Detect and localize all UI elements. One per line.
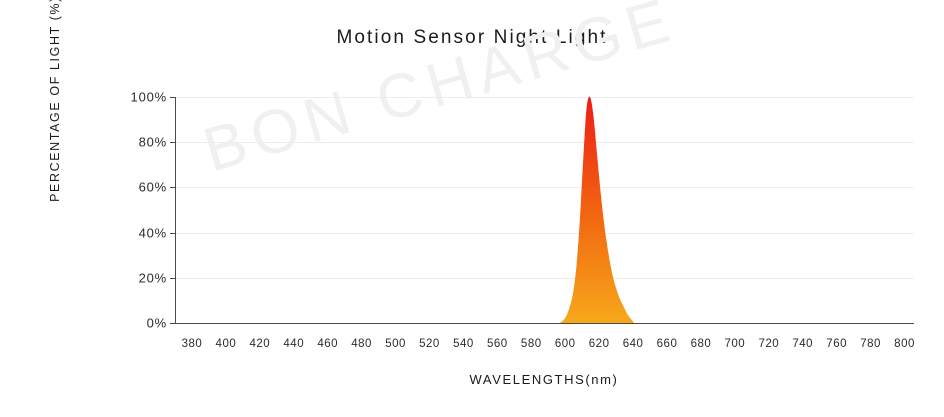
y-axis-title: PERCENTAGE OF LIGHT (%) <box>48 0 62 224</box>
x-tick-label: 580 <box>521 338 542 350</box>
x-tick-label: 680 <box>691 338 712 350</box>
y-axis-tick-labels: 0%20%40%60%80%100% <box>105 88 167 332</box>
y-tick-label: 0% <box>105 316 167 331</box>
chart-card: Motion Sensor Night Light BON CHARGE PER… <box>0 0 944 417</box>
x-tick-label: 720 <box>758 338 779 350</box>
x-tick-label: 600 <box>555 338 576 350</box>
plot-area <box>175 97 914 324</box>
y-tick-label: 60% <box>105 180 167 195</box>
spectrum-curve <box>176 97 914 323</box>
x-tick-label: 480 <box>351 338 372 350</box>
x-tick-label: 400 <box>216 338 237 350</box>
y-tick-label: 80% <box>105 135 167 150</box>
x-axis-tick-labels: 3804004204404604805005205405605806006206… <box>175 338 913 356</box>
x-tick-label: 560 <box>487 338 508 350</box>
x-tick-label: 620 <box>589 338 610 350</box>
page-title: Motion Sensor Night Light <box>0 27 944 49</box>
x-tick-label: 780 <box>860 338 881 350</box>
x-tick-label: 640 <box>623 338 644 350</box>
x-tick-label: 700 <box>725 338 746 350</box>
y-tick-label: 40% <box>105 225 167 240</box>
y-tick-label: 20% <box>105 270 167 285</box>
y-tick-mark <box>170 323 176 324</box>
x-tick-label: 740 <box>792 338 813 350</box>
x-tick-label: 660 <box>657 338 678 350</box>
x-tick-label: 420 <box>249 338 270 350</box>
y-tick-label: 100% <box>105 90 167 105</box>
x-axis-title: WAVELENGTHS(nm) <box>175 372 913 387</box>
x-tick-label: 500 <box>385 338 406 350</box>
x-tick-label: 800 <box>894 338 915 350</box>
x-tick-label: 540 <box>453 338 474 350</box>
x-tick-label: 520 <box>419 338 440 350</box>
x-tick-label: 460 <box>317 338 338 350</box>
x-tick-label: 760 <box>826 338 847 350</box>
x-tick-label: 380 <box>182 338 203 350</box>
x-tick-label: 440 <box>283 338 304 350</box>
